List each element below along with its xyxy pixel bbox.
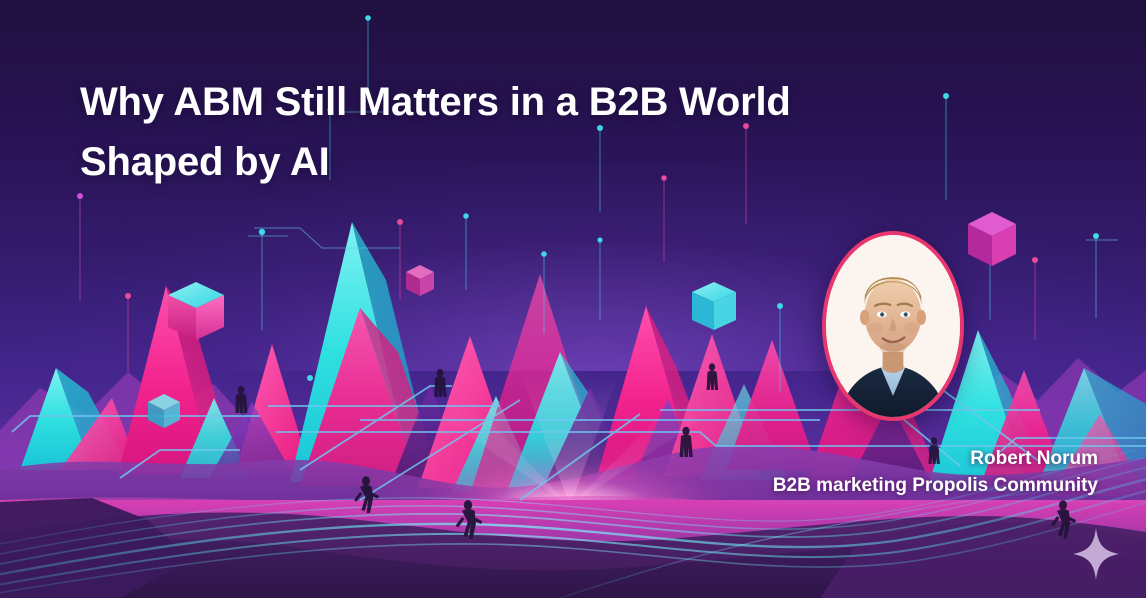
hero-title-line-1: Why ABM Still Matters in a B2B World (80, 72, 1010, 132)
speaker-info: Robert Norum B2B marketing Propolis Comm… (773, 446, 1098, 500)
hero-title-line-2: Shaped by AI (80, 132, 1010, 192)
webinar-hero-banner: Why ABM Still Matters in a B2B World Sha… (0, 0, 1146, 598)
cube-cyan-icon (692, 282, 736, 330)
figure-standing (434, 369, 446, 397)
hero-title-block: Why ABM Still Matters in a B2B World Sha… (80, 72, 1010, 192)
avatar-portrait-illustration (826, 235, 960, 417)
speaker-avatar (822, 231, 964, 421)
sparkle-star-icon (1073, 528, 1119, 580)
figure-standing (235, 386, 247, 413)
speaker-name: Robert Norum (773, 446, 1098, 472)
cube-small-pink-icon (406, 265, 434, 296)
cube-magenta-icon (968, 212, 1016, 266)
speaker-role: B2B marketing Propolis Community (773, 472, 1098, 500)
